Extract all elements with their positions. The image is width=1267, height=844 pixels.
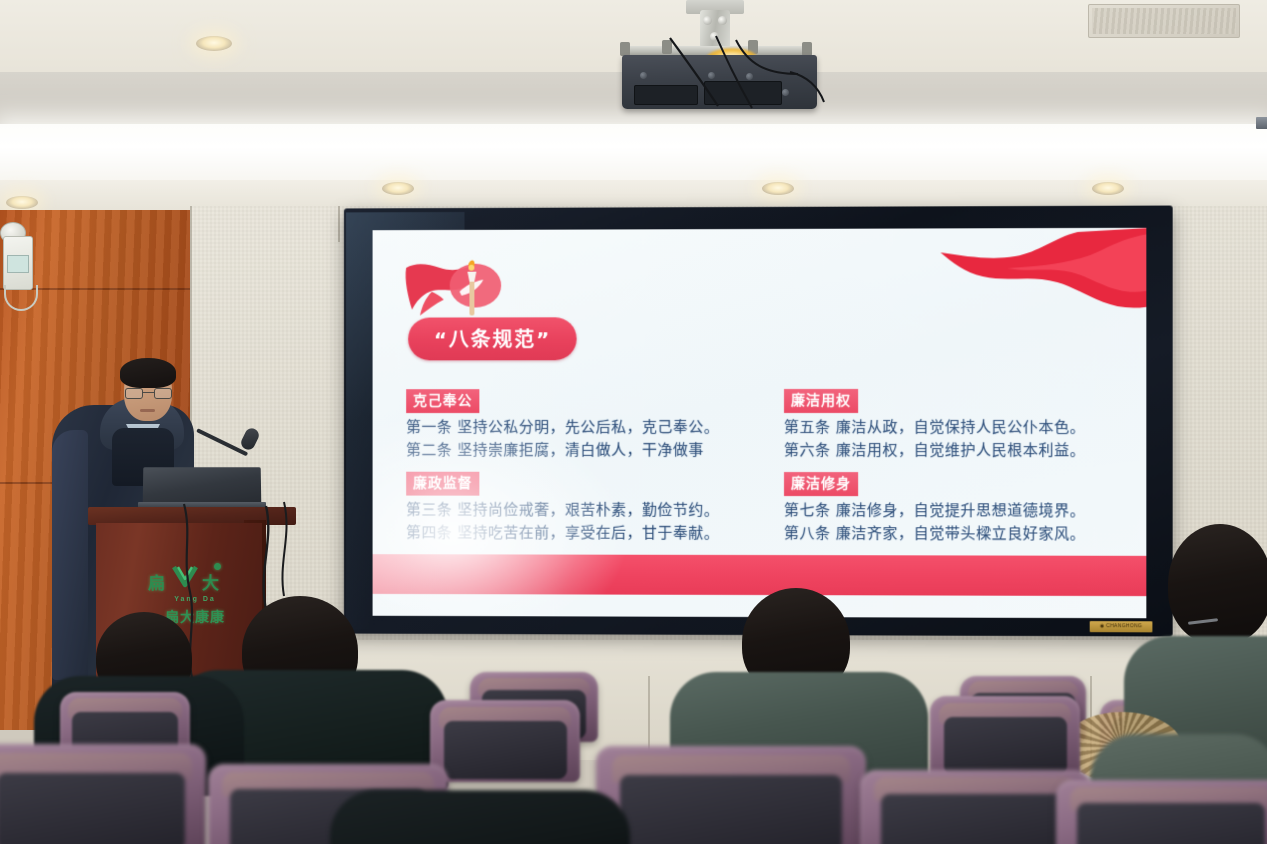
- slide-title-badge: “八条规范”: [408, 317, 577, 360]
- presenter-mouth: [140, 409, 155, 412]
- air-vent: [1088, 4, 1240, 38]
- chair[interactable]: [0, 744, 206, 844]
- slide-band-glare: [373, 554, 601, 594]
- downlight-icon: [382, 182, 414, 195]
- slide-clause: 第二条 坚持崇廉拒腐，清白做人，干净做事: [406, 439, 764, 462]
- slide-clause: 第四条 坚持吃苦在前，享受在后，甘于奉献。: [406, 521, 764, 545]
- projector-arm-foot: [620, 42, 630, 56]
- wall-device-display: [7, 255, 29, 273]
- red-flag-ribbon-icon: [848, 228, 1146, 334]
- chair[interactable]: [596, 746, 866, 844]
- downlight-icon: [6, 196, 38, 209]
- slide-clause: 第三条 坚持尚俭戒奢，艰苦朴素，勤俭节约。: [406, 498, 764, 522]
- flag-torch-emblem-icon: [402, 258, 509, 322]
- slide-clause: 第六条 廉洁用权，自觉维护人民根本利益。: [784, 439, 1146, 463]
- logo-char-left: 扁: [148, 569, 165, 594]
- wall-control-device[interactable]: [3, 236, 33, 290]
- presenter-glasses: [125, 388, 172, 399]
- section-heading: 廉洁用权: [784, 389, 858, 413]
- section-heading: 廉洁修身: [784, 472, 858, 496]
- chair[interactable]: [930, 696, 1080, 778]
- slide-columns: 克己奉公 第一条 坚持公私分明，先公后私，克己奉公。 第二条 坚持崇廉拒腐，清白…: [373, 389, 1147, 580]
- section-heading: 克己奉公: [406, 389, 479, 413]
- projector-label: [1256, 117, 1267, 129]
- slide-clause: 第五条 廉洁从政，自觉保持人民公仆本色。: [784, 416, 1146, 439]
- section-heading: 廉政监督: [406, 471, 479, 495]
- display-panel: “八条规范” 克己奉公 第一条 坚持公私分明，先公后私，克己奉公。 第二条 坚持…: [373, 228, 1147, 618]
- downlight-icon: [196, 36, 232, 51]
- wall-seam: [338, 206, 340, 242]
- slide-clause: 第一条 坚持公私分明，先公后私，克己奉公。: [406, 416, 764, 439]
- display-brand-badge: ◉ CHANGHONG: [1090, 621, 1153, 632]
- ceiling-light-trough: [0, 124, 1267, 182]
- slide-clause: 第七条 廉洁修身，自觉提升思想道德境界。: [784, 499, 1146, 523]
- slide-section: 廉政监督 第三条 坚持尚俭戒奢，艰苦朴素，勤俭节约。 第四条 坚持吃苦在前，享受…: [406, 471, 764, 545]
- laptop-screen[interactable]: [143, 467, 262, 504]
- presentation-slide: “八条规范” 克己奉公 第一条 坚持公私分明，先公后私，克己奉公。 第二条 坚持…: [373, 228, 1147, 618]
- projector-cables: [640, 34, 880, 114]
- slide-section: 廉洁用权 第五条 廉洁从政，自觉保持人民公仆本色。 第六条 廉洁用权，自觉维护人…: [784, 389, 1146, 463]
- slide-section: 廉洁修身 第七条 廉洁修身，自觉提升思想道德境界。 第八条 廉洁齐家，自觉带头樑…: [784, 472, 1146, 546]
- presenter-hair: [120, 358, 176, 388]
- lecture-hall-scene: “八条规范” 克己奉公 第一条 坚持公私分明，先公后私，克己奉公。 第二条 坚持…: [0, 0, 1267, 844]
- chair[interactable]: [1056, 780, 1267, 844]
- presenter-arm: [52, 430, 88, 680]
- slide-column-left: 克己奉公 第一条 坚持公私分明，先公后私，克己奉公。 第二条 坚持崇廉拒腐，清白…: [373, 389, 764, 579]
- presentation-display[interactable]: “八条规范” 克己奉公 第一条 坚持公私分明，先公后私，克己奉公。 第二条 坚持…: [344, 206, 1173, 637]
- downlight-icon: [762, 182, 794, 195]
- downlight-icon: [1092, 182, 1124, 195]
- slide-clause: 第八条 廉洁齐家，自觉带头樑立良好家风。: [784, 522, 1146, 546]
- attendee-head: [1168, 524, 1267, 644]
- attendee-shoulders: [330, 790, 630, 844]
- chair[interactable]: [430, 700, 580, 782]
- slide-column-right: 廉洁用权 第五条 廉洁从政，自觉保持人民公仆本色。 第六条 廉洁用权，自觉维护人…: [764, 389, 1146, 580]
- slide-section: 克己奉公 第一条 坚持公私分明，先公后私，克己奉公。 第二条 坚持崇廉拒腐，清白…: [406, 389, 764, 463]
